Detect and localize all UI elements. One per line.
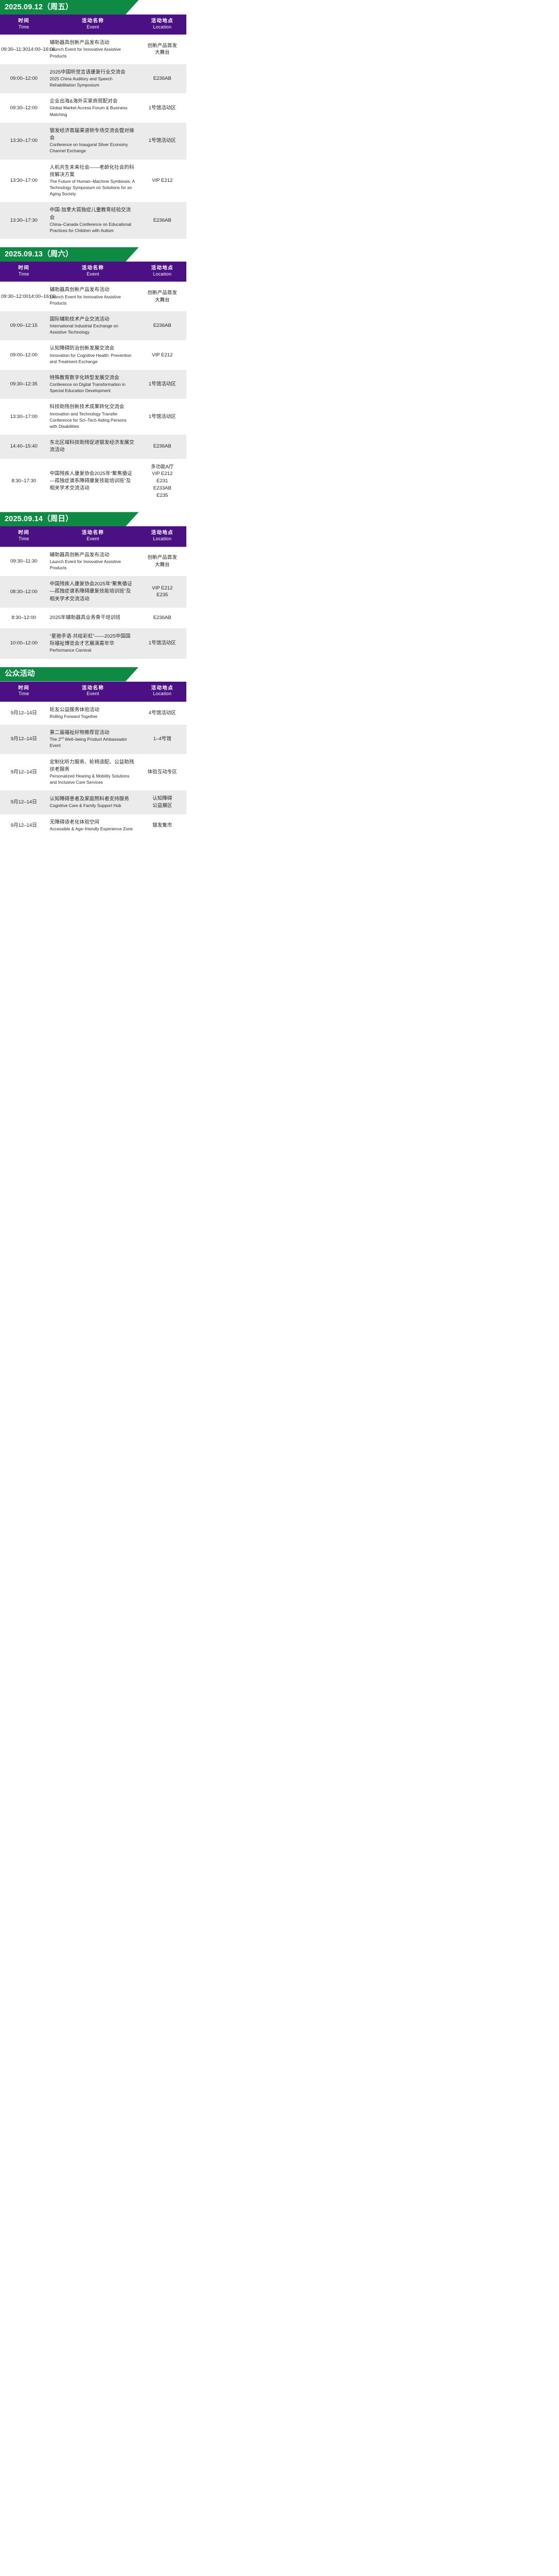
column-header-time-cn: 时间 — [0, 685, 48, 692]
row-event: 轮友公益服务体验活动Rolling Forward Together — [48, 707, 138, 720]
row-time: 9月12–14日 — [0, 799, 48, 806]
table-row[interactable]: 09:30–11:3014:00–16:00辅助器具创新产品发布活动Launch… — [0, 35, 186, 64]
column-header-event: 活动名称Event — [48, 685, 138, 697]
row-event-cn: 辅助器具创新产品发布活动 — [50, 286, 135, 294]
row-event: 辅助器具创新产品发布活动Launch Event for Innovative … — [48, 286, 138, 307]
table-row[interactable]: 09:30–12:0014:00–16:00辅助器具创新产品发布活动Launch… — [0, 282, 186, 311]
row-event-en: Conference on Digital Transformation in … — [50, 382, 135, 394]
row-event-cn: 中国-加拿大孤独症儿童教育经验交流会 — [50, 207, 135, 222]
row-event-cn: 无障碍适老化体验空间 — [50, 819, 135, 826]
table-row[interactable]: 9月12–14日轮友公益服务体验活动Rolling Forward Togeth… — [0, 702, 186, 725]
table-row[interactable]: 8:30–12:002025年辅助器具业务骨干培训班E236AB — [0, 608, 186, 628]
row-event-cn: “星驰手语·共绘彩虹”——2025中国国际福祉博览会才艺展演嘉年华 — [50, 633, 135, 648]
section-gap — [0, 242, 186, 247]
day-section: 2025.09.12（周五）时间Time活动名称Event活动地点Locatio… — [0, 0, 186, 239]
section-date-banner: 2025.09.12（周五） — [0, 0, 139, 15]
table-header-row: 时间Time活动名称Event活动地点Location — [0, 15, 186, 35]
row-event: 辅助器具创新产品发布活动Launch Event for Innovative … — [48, 552, 138, 572]
row-location: 1–4号馆 — [138, 736, 186, 743]
row-event-cn: 认知障碍防治创新发展交流会 — [50, 345, 135, 352]
row-location: 1号馆活动区 — [138, 640, 186, 647]
row-event-en: International Industrial Exchange on Ass… — [50, 323, 135, 336]
row-location: 1号馆活动区 — [138, 105, 186, 112]
column-header-time-en: Time — [0, 536, 48, 542]
column-header-event-cn: 活动名称 — [48, 18, 138, 24]
table-row[interactable]: 13:30–17:00人机共生未来社会——老龄化社会的科技解决方案The Fut… — [0, 160, 186, 203]
row-time: 09:30–12:35 — [0, 381, 48, 388]
row-event-cn: 中国残疾人康复协会2025年“聚焦循证—孤独症谱系障碍康复技能培训班”及相关学术… — [50, 581, 135, 603]
section-gap — [0, 507, 186, 512]
column-header-time: 时间Time — [0, 265, 48, 277]
row-event-cn: 2025中国听觉言语康复行业交流会 — [50, 69, 135, 76]
table-row[interactable]: 08:30–12:00中国残疾人康复协会2025年“聚焦循证—孤独症谱系障碍康复… — [0, 576, 186, 608]
row-time: 09:30–11:30 — [0, 558, 48, 565]
row-event-cn: 银发经济首届渠道侧专场交流会暨对接会 — [50, 127, 135, 142]
row-time: 09:00–12:00 — [0, 352, 48, 359]
section-date-banner: 2025.09.14（周日） — [0, 512, 139, 526]
row-time: 13:30–17:00 — [0, 137, 48, 145]
column-header-location-cn: 活动地点 — [138, 265, 186, 271]
row-location: 创新产品首发大舞台 — [138, 554, 186, 569]
row-event-en: Cognitive Care & Family Support Hub — [50, 803, 135, 809]
row-event-cn: 企业出海&海外买家商贸配对会 — [50, 98, 135, 105]
row-event-cn: 科技助残创新技术成果转化交流会 — [50, 404, 135, 411]
row-location: 创新产品首发大舞台 — [138, 42, 186, 57]
row-event-en: China–Canada Conference on Educational P… — [50, 222, 135, 234]
column-header-event-en: Event — [48, 24, 138, 30]
table-row[interactable]: 9月12–14日无障碍适老化体验空间Accessible & Age–frien… — [0, 814, 186, 837]
row-event: 认知障碍患者及家庭照料者支持服务Cognitive Care & Family … — [48, 796, 138, 809]
table-header-row: 时间Time活动名称Event活动地点Location — [0, 526, 186, 546]
row-event: 认知障碍防治创新发展交流会Innovation for Cognitive He… — [48, 345, 138, 365]
row-event-cn: 辅助器具创新产品发布活动 — [50, 39, 135, 47]
column-header-time-cn: 时间 — [0, 18, 48, 24]
day-section: 2025.09.13（周六）时间Time活动名称Event活动地点Locatio… — [0, 247, 186, 503]
row-event-en: Performance Carnival — [50, 647, 135, 654]
table-row[interactable]: 09:30–12:00企业出海&海外买家商贸配对会Global Market A… — [0, 93, 186, 123]
row-time: 9月12–14日 — [0, 822, 48, 829]
row-time: 13:30–17:30 — [0, 217, 48, 224]
row-time: 9月12–14日 — [0, 736, 48, 743]
row-event: 企业出海&海外买家商贸配对会Global Market Access Forum… — [48, 98, 138, 118]
column-header-event-cn: 活动名称 — [48, 530, 138, 536]
table-row[interactable]: 09:30–12:35特殊教育数字化转型发展交流会Conference on D… — [0, 370, 186, 399]
table-row[interactable]: 9月12–14日第二届福祉好物推荐官活动The 2nd Well–being P… — [0, 725, 186, 754]
row-event-en: Conference on Inaugural Silver Economy C… — [50, 142, 135, 154]
column-header-location: 活动地点Location — [138, 265, 186, 277]
row-time: 09:00–12:00 — [0, 75, 48, 82]
table-row[interactable]: 13:30–17:00科技助残创新技术成果转化交流会Innovation and… — [0, 399, 186, 435]
row-event-cn: 国际辅助技术产业交流活动 — [50, 316, 135, 323]
row-location: E236AB — [138, 322, 186, 329]
column-header-time: 时间Time — [0, 685, 48, 697]
row-event-en: Innovation and Technology Transfer Confe… — [50, 411, 135, 430]
row-time: 09:00–12:15 — [0, 322, 48, 329]
row-time: 10:00–12:00 — [0, 640, 48, 647]
table-row[interactable]: 13:30–17:00银发经济首届渠道侧专场交流会暨对接会Conference … — [0, 123, 186, 160]
table-row[interactable]: 09:00–12:002025中国听觉言语康复行业交流会2025 China A… — [0, 64, 186, 94]
row-event: 银发经济首届渠道侧专场交流会暨对接会Conference on Inaugura… — [48, 127, 138, 155]
row-location: 1号馆活动区 — [138, 381, 186, 388]
row-event-en: Personalized Hearing & Mobility Solution… — [50, 773, 135, 786]
row-event: 特殊教育数字化转型发展交流会Conference on Digital Tran… — [48, 375, 138, 395]
row-event: 国际辅助技术产业交流活动International Industrial Exc… — [48, 316, 138, 336]
row-event-en: Global Market Access Forum & Business Ma… — [50, 105, 135, 118]
row-event: 第二届福祉好物推荐官活动The 2nd Well–being Product A… — [48, 729, 138, 750]
row-location: VIP E212E235 — [138, 585, 186, 599]
table-row[interactable]: 09:30–11:30辅助器具创新产品发布活动Launch Event for … — [0, 547, 186, 577]
row-location: 认知障碍公益展区 — [138, 795, 186, 810]
row-event-en: Launch Event for Innovative Assistive Pr… — [50, 559, 135, 571]
table-row[interactable]: 09:00–12:15国际辅助技术产业交流活动International Ind… — [0, 311, 186, 341]
row-location: 4号馆活动区 — [138, 710, 186, 717]
column-header-location-en: Location — [138, 536, 186, 542]
row-location: 1号馆活动区 — [138, 137, 186, 145]
table-header-row: 时间Time活动名称Event活动地点Location — [0, 262, 186, 282]
column-header-event-en: Event — [48, 536, 138, 542]
row-event-en: 2025 China Auditory and Speech Rehabilit… — [50, 76, 135, 89]
column-header-event-en: Event — [48, 271, 138, 277]
row-event-cn: 中国残疾人康复协会2025年“聚焦循证—孤独症谱系障碍康复技能培训班”及相关学术… — [50, 470, 135, 493]
row-event: “星驰手语·共绘彩虹”——2025中国国际福祉博览会才艺展演嘉年华Perform… — [48, 633, 138, 654]
column-header-location: 活动地点Location — [138, 530, 186, 542]
row-event: 东北区域科技助残促进银发经济发展交流活动 — [48, 439, 138, 454]
column-header-location-cn: 活动地点 — [138, 18, 186, 24]
column-header-location-cn: 活动地点 — [138, 685, 186, 692]
row-event-cn: 人机共生未来社会——老龄化社会的科技解决方案 — [50, 164, 135, 179]
row-time: 09:30–12:0014:00–16:00 — [0, 293, 48, 300]
column-header-time-en: Time — [0, 691, 48, 697]
row-event-cn: 认知障碍患者及家庭照料者支持服务 — [50, 796, 135, 803]
row-event: 2025年辅助器具业务骨干培训班 — [48, 614, 138, 622]
row-location: 1号馆活动区 — [138, 413, 186, 421]
row-location: VIP E212 — [138, 177, 186, 184]
section-date-label: 2025.09.13（周六） — [5, 251, 73, 258]
row-time: 8:30–12:00 — [0, 614, 48, 622]
column-header-time-en: Time — [0, 24, 48, 30]
row-event-cn: 定制化听力服务、轮椅适配、公益助残扶老服务 — [50, 759, 135, 774]
row-time: 13:30–17:00 — [0, 177, 48, 184]
schedule-root: 2025.09.12（周五）时间Time活动名称Event活动地点Locatio… — [0, 0, 186, 837]
column-header-event-cn: 活动名称 — [48, 685, 138, 692]
row-event: 人机共生未来社会——老龄化社会的科技解决方案The Future of Huma… — [48, 164, 138, 198]
table-row[interactable]: 10:00–12:00“星驰手语·共绘彩虹”——2025中国国际福祉博览会才艺展… — [0, 628, 186, 659]
row-time: 14:40–15:40 — [0, 443, 48, 450]
row-event: 中国残疾人康复协会2025年“聚焦循证—孤独症谱系障碍康复技能培训班”及相关学术… — [48, 470, 138, 493]
table-row[interactable]: 8:30–17:30中国残疾人康复协会2025年“聚焦循证—孤独症谱系障碍康复技… — [0, 459, 186, 504]
column-header-location: 活动地点Location — [138, 18, 186, 30]
column-header-time: 时间Time — [0, 18, 48, 30]
section-date-label: 公众活动 — [5, 670, 35, 678]
column-header-time: 时间Time — [0, 530, 48, 542]
row-event: 无障碍适老化体验空间Accessible & Age–friendly Expe… — [48, 819, 138, 832]
day-section: 2025.09.14（周日）时间Time活动名称Event活动地点Locatio… — [0, 512, 186, 658]
row-event-cn: 轮友公益服务体验活动 — [50, 707, 135, 714]
row-event-cn: 东北区域科技助残促进银发经济发展交流活动 — [50, 439, 135, 454]
row-event-cn: 特殊教育数字化转型发展交流会 — [50, 375, 135, 382]
row-event: 科技助残创新技术成果转化交流会Innovation and Technology… — [48, 404, 138, 430]
table-row[interactable]: 09:00–12:00认知障碍防治创新发展交流会Innovation for C… — [0, 340, 186, 370]
row-time: 09:30–12:00 — [0, 105, 48, 112]
row-time: 8:30–17:30 — [0, 478, 48, 485]
column-header-time-en: Time — [0, 271, 48, 277]
row-event: 中国-加拿大孤独症儿童教育经验交流会China–Canada Conferenc… — [48, 207, 138, 234]
row-time: 09:30–11:3014:00–16:00 — [0, 46, 48, 53]
row-event: 2025中国听觉言语康复行业交流会2025 China Auditory and… — [48, 69, 138, 89]
row-time: 13:30–17:00 — [0, 413, 48, 421]
row-event-en: Rolling Forward Together — [50, 714, 135, 720]
row-location: 多功能A厅VIP E212E231E233ABE235 — [138, 464, 186, 499]
row-event: 定制化听力服务、轮椅适配、公益助残扶老服务Personalized Hearin… — [48, 759, 138, 786]
row-event-cn: 第二届福祉好物推荐官活动 — [50, 729, 135, 737]
column-header-location-en: Location — [138, 691, 186, 697]
section-date-label: 2025.09.14（周日） — [5, 515, 73, 523]
column-header-event: 活动名称Event — [48, 18, 138, 30]
table-header-row: 时间Time活动名称Event活动地点Location — [0, 682, 186, 702]
column-header-event-en: Event — [48, 691, 138, 697]
row-location: E236AB — [138, 614, 186, 622]
row-location: VIP E212 — [138, 352, 186, 359]
column-header-location-cn: 活动地点 — [138, 530, 186, 536]
column-header-event: 活动名称Event — [48, 530, 138, 542]
section-date-label: 2025.09.12（周五） — [5, 4, 73, 11]
column-header-location-en: Location — [138, 24, 186, 30]
row-location: 创新产品首发大舞台 — [138, 290, 186, 304]
row-event-en: The Future of Human–Machine Symbiosis: A… — [50, 179, 135, 197]
column-header-location: 活动地点Location — [138, 685, 186, 697]
row-time: 9月12–14日 — [0, 769, 48, 776]
row-event-cn: 辅助器具创新产品发布活动 — [50, 552, 135, 559]
row-event: 辅助器具创新产品发布活动Launch Event for Innovative … — [48, 39, 138, 60]
row-location: 银发集市 — [138, 822, 186, 829]
row-event-cn: 2025年辅助器具业务骨干培训班 — [50, 614, 135, 622]
table-row[interactable]: 14:40–15:40东北区域科技助残促进银发经济发展交流活动E236AB — [0, 435, 186, 459]
row-location: E236AB — [138, 75, 186, 82]
day-section: 公众活动时间Time活动名称Event活动地点Location9月12–14日轮… — [0, 667, 186, 838]
column-header-time-cn: 时间 — [0, 265, 48, 271]
table-row[interactable]: 13:30–17:30中国-加拿大孤独症儿童教育经验交流会China–Canad… — [0, 202, 186, 239]
row-event-en: Accessible & Age–friendly Experience Zon… — [50, 826, 135, 832]
section-date-banner: 2025.09.13（周六） — [0, 247, 139, 262]
row-event: 中国残疾人康复协会2025年“聚焦循证—孤独症谱系障碍康复技能培训班”及相关学术… — [48, 581, 138, 603]
table-row[interactable]: 9月12–14日定制化听力服务、轮椅适配、公益助残扶老服务Personalize… — [0, 754, 186, 791]
row-time: 9月12–14日 — [0, 710, 48, 717]
table-row[interactable]: 9月12–14日认知障碍患者及家庭照料者支持服务Cognitive Care &… — [0, 790, 186, 814]
row-event-en: Launch Event for Innovative Assistive Pr… — [50, 47, 135, 59]
section-date-banner: 公众活动 — [0, 667, 139, 682]
row-location: E236AB — [138, 443, 186, 450]
row-location: E236AB — [138, 217, 186, 224]
column-header-time-cn: 时间 — [0, 530, 48, 536]
row-event-en: The 2nd Well–being Product Ambassador Ev… — [50, 737, 135, 749]
row-time: 08:30–12:00 — [0, 588, 48, 596]
row-event-en: Innovation for Cognitive Health: Prevent… — [50, 353, 135, 365]
row-event-en: Launch Event for Innovative Assistive Pr… — [50, 294, 135, 307]
column-header-event: 活动名称Event — [48, 265, 138, 277]
section-gap — [0, 662, 186, 667]
row-location: 体验互动专区 — [138, 769, 186, 776]
column-header-event-cn: 活动名称 — [48, 265, 138, 271]
column-header-location-en: Location — [138, 271, 186, 277]
